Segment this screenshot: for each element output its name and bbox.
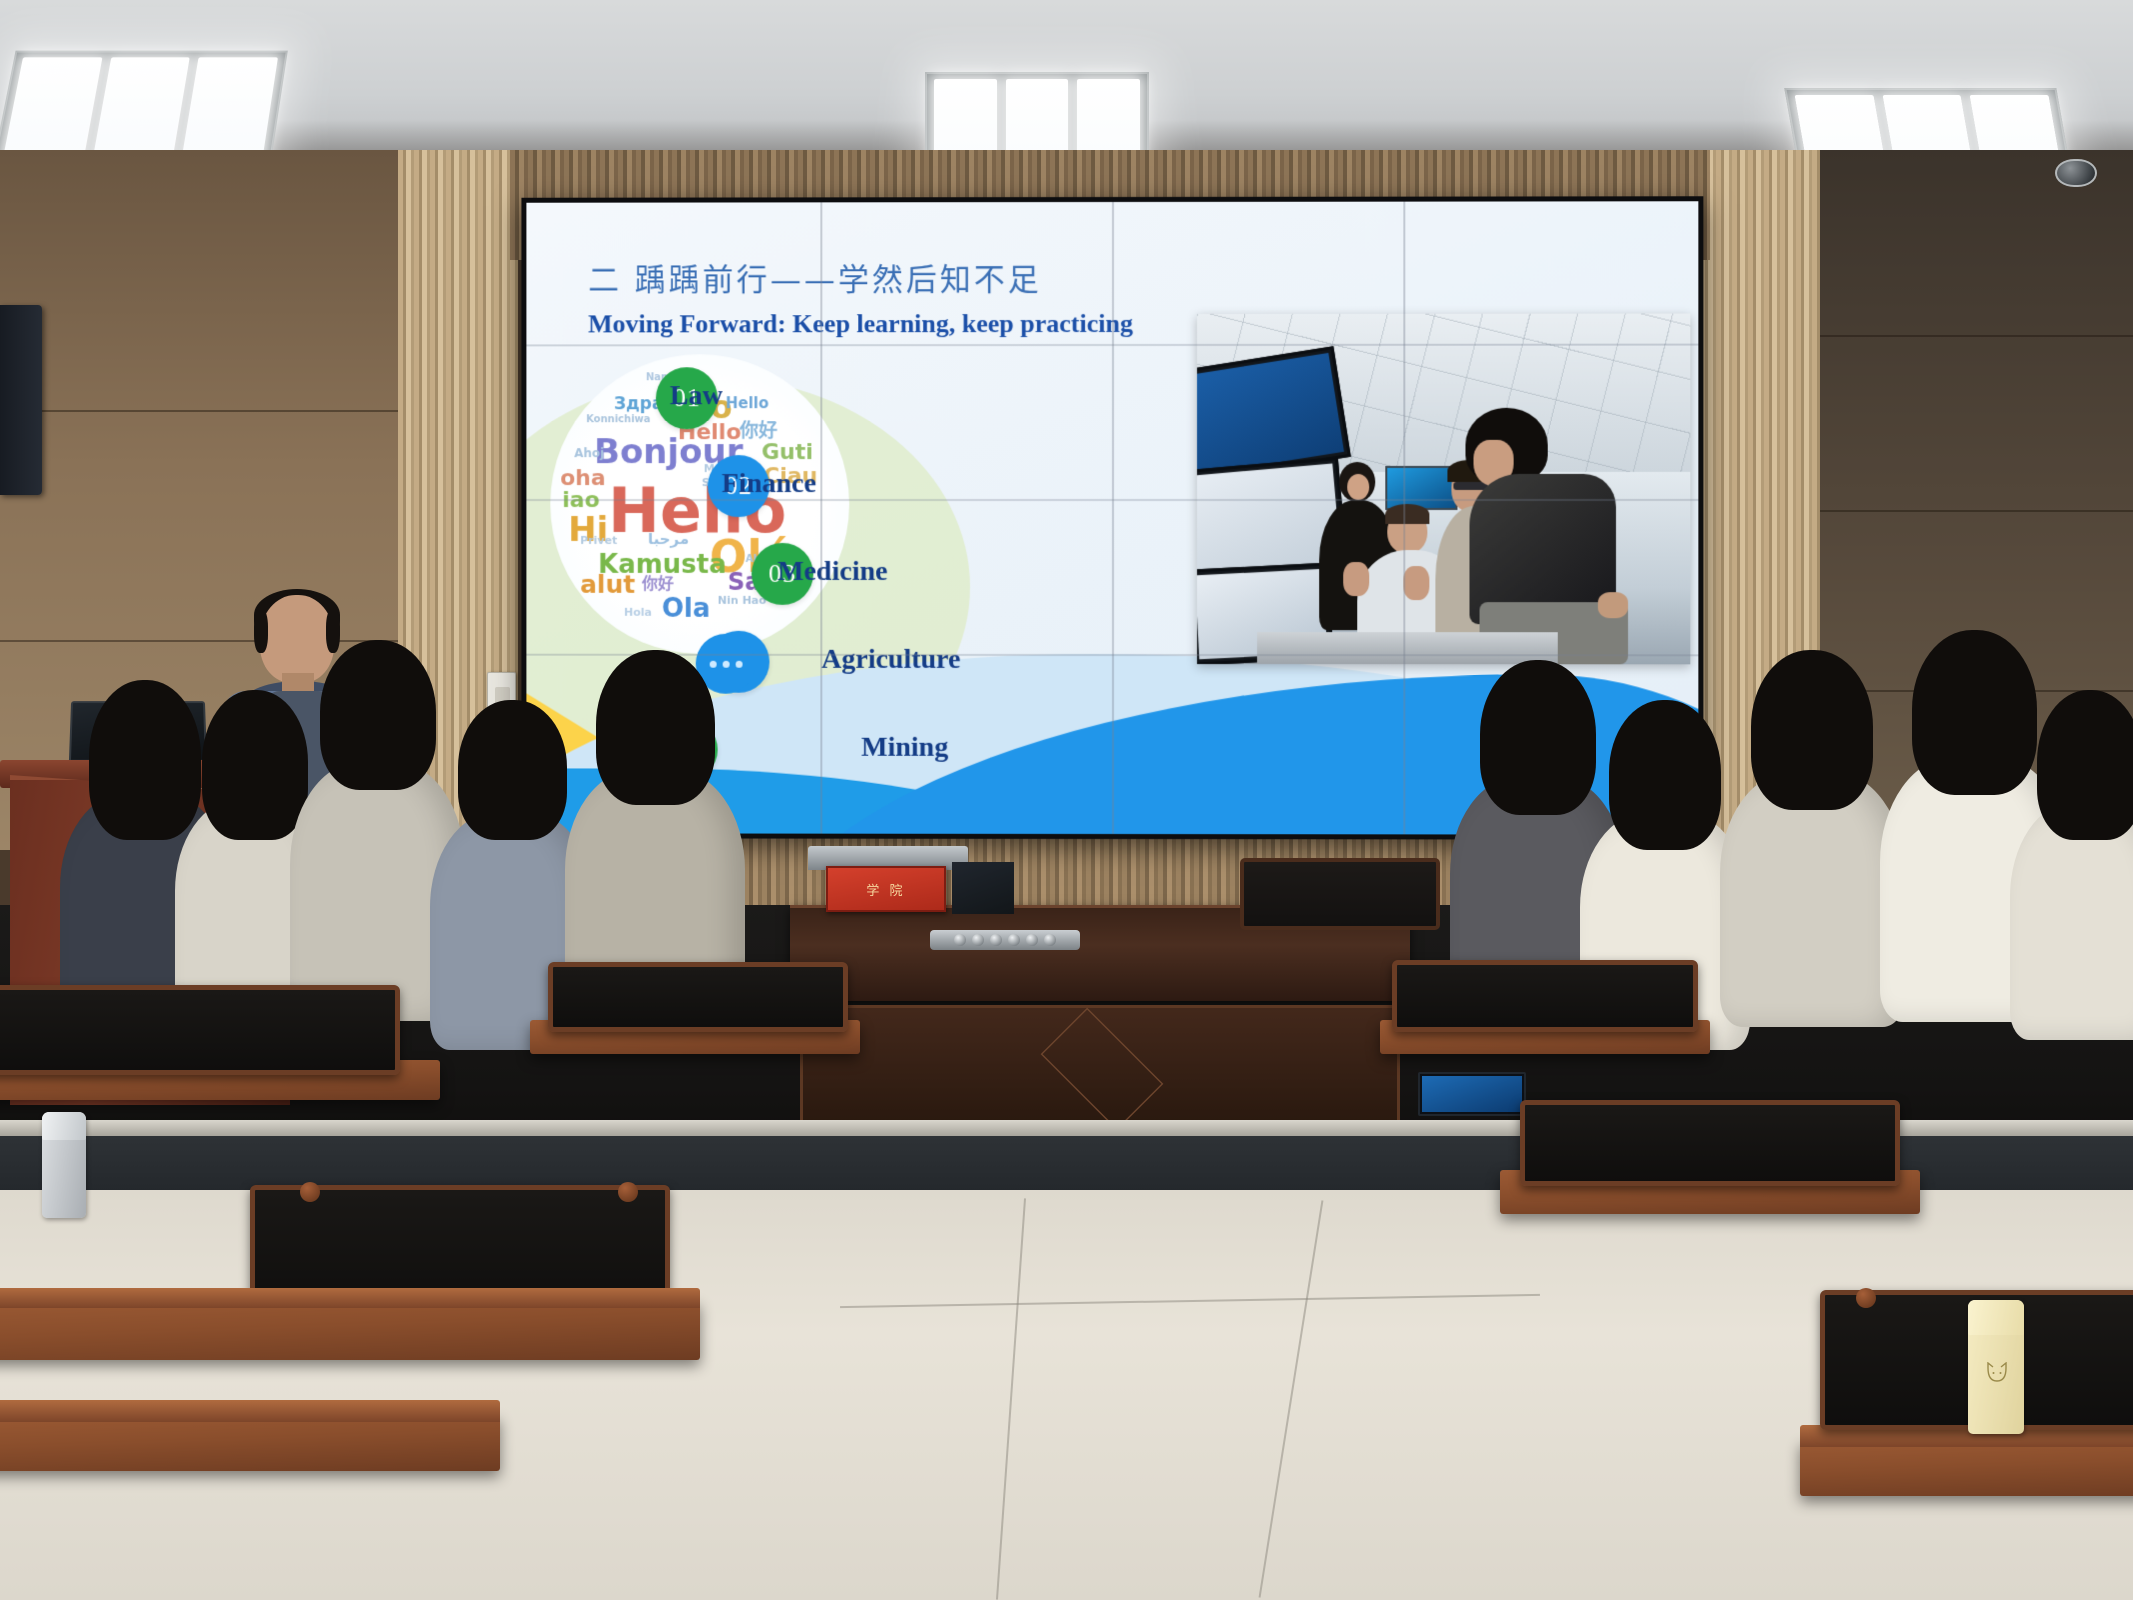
student-5 [565,650,745,1000]
stage-front-panel [800,1005,1400,1125]
seat-knob [1856,1288,1876,1308]
photo-monitor-screen [1197,353,1344,475]
student-hair [320,640,436,790]
photo-person-hand [1343,562,1369,596]
slide-title-chinese: 二 踽踽前行——学然后知不足 [588,254,1133,299]
seat-knob [300,1182,320,1202]
student-hair [1609,700,1721,850]
student-8 [1720,650,1905,1005]
student-seat-back[interactable] [1392,960,1698,1032]
cat-face-icon [1985,1362,2009,1384]
slide-item-label-mining: Mining [861,732,948,764]
slide-item-label-law: Law [670,380,723,412]
student-desk [0,1415,500,1471]
student-hair [1751,650,1873,810]
desk-monitor[interactable] [1418,1072,1526,1116]
slide-item-label-finance: Finance [722,468,817,500]
wordcloud-word: alut [580,570,635,599]
slide-item-label-agriculture: Agriculture [821,644,960,676]
award-plaque: 学 院 [826,866,946,912]
security-camera-icon [2055,155,2099,187]
thermos-cap [42,1112,86,1140]
student-desk-edge [0,1400,500,1422]
slide-item-medicine[interactable]: 03Medicine [656,543,1215,631]
videowall-seam-vertical [1403,202,1405,835]
wordcloud-word: Ahoj [574,446,604,460]
wordcloud-word: Hola [624,606,652,619]
photo-person-hand [1403,566,1429,600]
student-hair [2037,690,2133,840]
photo-person-face [1347,474,1369,500]
videowall-seam-vertical [1112,202,1114,834]
student-10 [2010,690,2133,1020]
presenter-hair-side [254,609,268,653]
slide-embedded-photo [1197,314,1690,665]
stage-document-folder [952,862,1014,914]
student-seat-back[interactable] [0,985,400,1075]
photo-person-hair [1385,504,1429,524]
thermos-cap [1968,1300,2024,1335]
student-desk [1800,1440,2133,1496]
student-hair [458,700,567,840]
student-seat-back[interactable] [1520,1100,1900,1186]
camera-dome [2055,159,2097,187]
seat-knob [618,1182,638,1202]
student-hair [1480,660,1596,815]
wall-speaker [0,305,42,495]
stage-chair[interactable] [1240,858,1440,930]
slide-item-label-medicine: Medicine [777,556,887,588]
slide-title-block: 二 踽踽前行——学然后知不足 Moving Forward: Keep lear… [588,254,1133,339]
videowall-seam-horizontal [526,499,1698,501]
conference-microphone-panel[interactable] [930,930,1080,950]
student-seat-back[interactable] [548,962,848,1032]
wall-seam [0,410,400,412]
student-hair [596,650,715,805]
thermos-bottle-grey[interactable] [42,1112,86,1218]
videowall-seam-vertical [821,202,823,833]
slide-item-law[interactable]: 01Law [656,367,1215,455]
photo-person-hand [1598,592,1628,618]
wordcloud-word: Privet [580,534,617,547]
student-desk-edge [0,1288,700,1308]
student-desk [0,1300,700,1360]
thermos-bottle-cream[interactable] [1968,1300,2024,1434]
slide-title-english: Moving Forward: Keep learning, keep prac… [588,309,1133,339]
award-plaque-text: 学 院 [866,880,905,899]
wordcloud-word: Konnichiwa [586,414,650,425]
lecture-hall-scene: 二 踽踽前行——学然后知不足 Moving Forward: Keep lear… [0,0,2133,1600]
